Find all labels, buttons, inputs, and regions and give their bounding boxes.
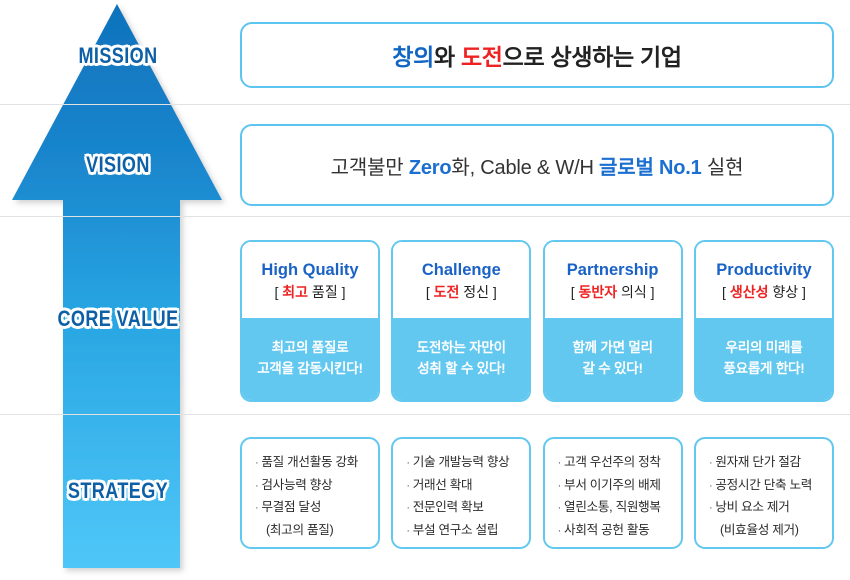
bullet-dot-icon: · — [709, 457, 712, 469]
mission-text-segment-3: 으로 상생하는 기업 — [503, 44, 682, 70]
vision-text-segment-0: 고객불만 — [331, 157, 409, 179]
core-value-bracket-close: 정신 ] — [459, 284, 496, 300]
bullet-dot-icon: · — [406, 525, 409, 537]
core-value-keyword: 동반자 — [579, 284, 618, 300]
row-label-vision: VISION — [21, 152, 215, 178]
core-value-card-header: Partnership[ 동반자 의식 ] — [545, 242, 681, 318]
vision-text-segment-1: Zero — [409, 157, 452, 179]
mission-text-segment-2: 도전 — [461, 44, 503, 70]
core-value-slogan: 우리의 미래를풍요롭게 한다! — [696, 318, 832, 400]
strategy-item: ·품질 개선활동 강화 — [255, 451, 378, 474]
vision-text-segment-2: 화, Cable & W/H — [451, 157, 599, 179]
core-value-bracket-close: 향상 ] — [768, 284, 805, 300]
strategy-item: ·열린소통, 직원행복 — [558, 496, 681, 519]
vision-banner: 고객불만 Zero화, Cable & W/H 글로벌 No.1 실현 — [240, 124, 834, 206]
strategy-item: (최고의 품질) — [255, 519, 378, 541]
core-value-slogan-line: 함께 가면 멀리 — [572, 338, 652, 359]
core-value-card: Productivity[ 생산성 향상 ]우리의 미래를풍요롭게 한다! — [694, 240, 834, 402]
row-label-core-value: CORE VALUE — [21, 306, 215, 332]
bullet-dot-icon: · — [558, 480, 561, 492]
strategy-item: ·원자재 단가 절감 — [709, 451, 832, 474]
bullet-dot-icon: · — [255, 457, 258, 469]
strategy-item: ·사회적 공헌 활동 — [558, 519, 681, 542]
vision-text-segment-3: 글로벌 No.1 — [599, 157, 702, 179]
strategy-item: ·부설 연구소 설립 — [406, 519, 529, 542]
core-value-title-en: Productivity — [716, 260, 811, 281]
core-value-bracket-open: [ — [722, 284, 730, 300]
row-separator-3 — [0, 414, 850, 415]
strategy-box: ·원자재 단가 절감·공정시간 단축 노력·낭비 요소 제거(비효율성 제거) — [694, 437, 834, 549]
mission-banner: 창의와 도전으로 상생하는 기업 — [240, 22, 834, 88]
core-value-title-kr: [ 동반자 의식 ] — [571, 282, 655, 302]
diagram-canvas: MISSION VISION CORE VALUE STRATEGY 창의와 도… — [0, 0, 850, 580]
row-label-mission: MISSION — [21, 43, 215, 69]
strategy-item-list: ·기술 개발능력 향상·거래선 확대·전문인력 확보·부설 연구소 설립 — [406, 451, 529, 541]
row-separator-1 — [0, 104, 850, 105]
strategy-item-list: ·원자재 단가 절감·공정시간 단축 노력·낭비 요소 제거(비효율성 제거) — [709, 451, 832, 541]
core-value-slogan-line: 갈 수 있다! — [583, 359, 643, 380]
bullet-dot-icon: · — [558, 502, 561, 514]
strategy-item: ·부서 이기주의 배제 — [558, 474, 681, 497]
bullet-dot-icon: · — [406, 457, 409, 469]
bullet-dot-icon: · — [406, 480, 409, 492]
bullet-dot-icon: · — [709, 480, 712, 492]
core-value-card-header: Productivity[ 생산성 향상 ] — [696, 242, 832, 318]
mission-statement: 창의와 도전으로 상생하는 기업 — [392, 38, 681, 72]
row-label-strategy: STRATEGY — [21, 478, 215, 504]
bullet-dot-icon: · — [709, 502, 712, 514]
core-value-slogan-line: 도전하는 자만이 — [417, 338, 506, 359]
core-value-slogan-line: 최고의 품질로 — [272, 338, 349, 359]
core-value-bracket-close: 의식 ] — [617, 284, 654, 300]
core-value-title-kr: [ 도전 정신 ] — [426, 282, 497, 302]
strategy-item-list: ·품질 개선활동 강화·검사능력 향상·무결점 달성(최고의 품질) — [255, 451, 378, 541]
strategy-item: ·고객 우선주의 정착 — [558, 451, 681, 474]
core-value-title-en: Partnership — [567, 260, 659, 281]
bullet-dot-icon: · — [558, 457, 561, 469]
core-value-card-list: High Quality[ 최고 품질 ]최고의 품질로고객을 감동시킨다!Ch… — [240, 240, 834, 402]
bullet-dot-icon: · — [255, 502, 258, 514]
core-value-title-kr: [ 생산성 향상 ] — [722, 282, 806, 302]
strategy-item: ·무결점 달성 — [255, 496, 378, 519]
core-value-title-en: High Quality — [261, 260, 358, 281]
strategy-item: ·공정시간 단축 노력 — [709, 474, 832, 497]
strategy-item: ·낭비 요소 제거 — [709, 496, 832, 519]
core-value-bracket-open: [ — [571, 284, 579, 300]
strategy-item: ·전문인력 확보 — [406, 496, 529, 519]
core-value-slogan: 함께 가면 멀리갈 수 있다! — [545, 318, 681, 400]
strategy-box: ·품질 개선활동 강화·검사능력 향상·무결점 달성(최고의 품질) — [240, 437, 380, 549]
strategy-item: (비효율성 제거) — [709, 519, 832, 541]
core-value-title-en: Challenge — [422, 260, 501, 281]
core-value-slogan: 최고의 품질로고객을 감동시킨다! — [242, 318, 378, 400]
bullet-dot-icon: · — [558, 525, 561, 537]
core-value-keyword: 생산성 — [730, 284, 769, 300]
core-value-slogan-line: 풍요롭게 한다! — [723, 359, 804, 380]
row-separator-2 — [0, 216, 850, 217]
vision-statement: 고객불만 Zero화, Cable & W/H 글로벌 No.1 실현 — [331, 151, 744, 180]
mission-text-segment-1: 와 — [434, 44, 461, 70]
core-value-card: High Quality[ 최고 품질 ]최고의 품질로고객을 감동시킨다! — [240, 240, 380, 402]
core-value-slogan-line: 성취 할 수 있다! — [417, 359, 505, 380]
vision-text-segment-4: 실현 — [702, 157, 744, 179]
bullet-dot-icon: · — [255, 480, 258, 492]
core-value-slogan-line: 고객을 감동시킨다! — [257, 359, 363, 380]
strategy-item-list: ·고객 우선주의 정착·부서 이기주의 배제·열린소통, 직원행복·사회적 공헌… — [558, 451, 681, 541]
core-value-keyword: 최고 — [282, 284, 308, 300]
core-value-card-header: Challenge[ 도전 정신 ] — [393, 242, 529, 318]
bullet-dot-icon: · — [406, 502, 409, 514]
core-value-slogan: 도전하는 자만이성취 할 수 있다! — [393, 318, 529, 400]
strategy-box-list: ·품질 개선활동 강화·검사능력 향상·무결점 달성(최고의 품질)·기술 개발… — [240, 437, 834, 549]
strategy-box: ·기술 개발능력 향상·거래선 확대·전문인력 확보·부설 연구소 설립 — [391, 437, 531, 549]
core-value-card: Partnership[ 동반자 의식 ]함께 가면 멀리갈 수 있다! — [543, 240, 683, 402]
core-value-card: Challenge[ 도전 정신 ]도전하는 자만이성취 할 수 있다! — [391, 240, 531, 402]
mission-text-segment-0: 창의 — [392, 44, 434, 70]
core-value-bracket-close: 품질 ] — [308, 284, 345, 300]
core-value-slogan-line: 우리의 미래를 — [726, 338, 803, 359]
core-value-card-header: High Quality[ 최고 품질 ] — [242, 242, 378, 318]
strategy-item: ·거래선 확대 — [406, 474, 529, 497]
core-value-title-kr: [ 최고 품질 ] — [275, 282, 346, 302]
strategy-item: ·검사능력 향상 — [255, 474, 378, 497]
core-value-keyword: 도전 — [434, 284, 460, 300]
strategy-box: ·고객 우선주의 정착·부서 이기주의 배제·열린소통, 직원행복·사회적 공헌… — [543, 437, 683, 549]
core-value-bracket-open: [ — [426, 284, 434, 300]
strategy-item: ·기술 개발능력 향상 — [406, 451, 529, 474]
